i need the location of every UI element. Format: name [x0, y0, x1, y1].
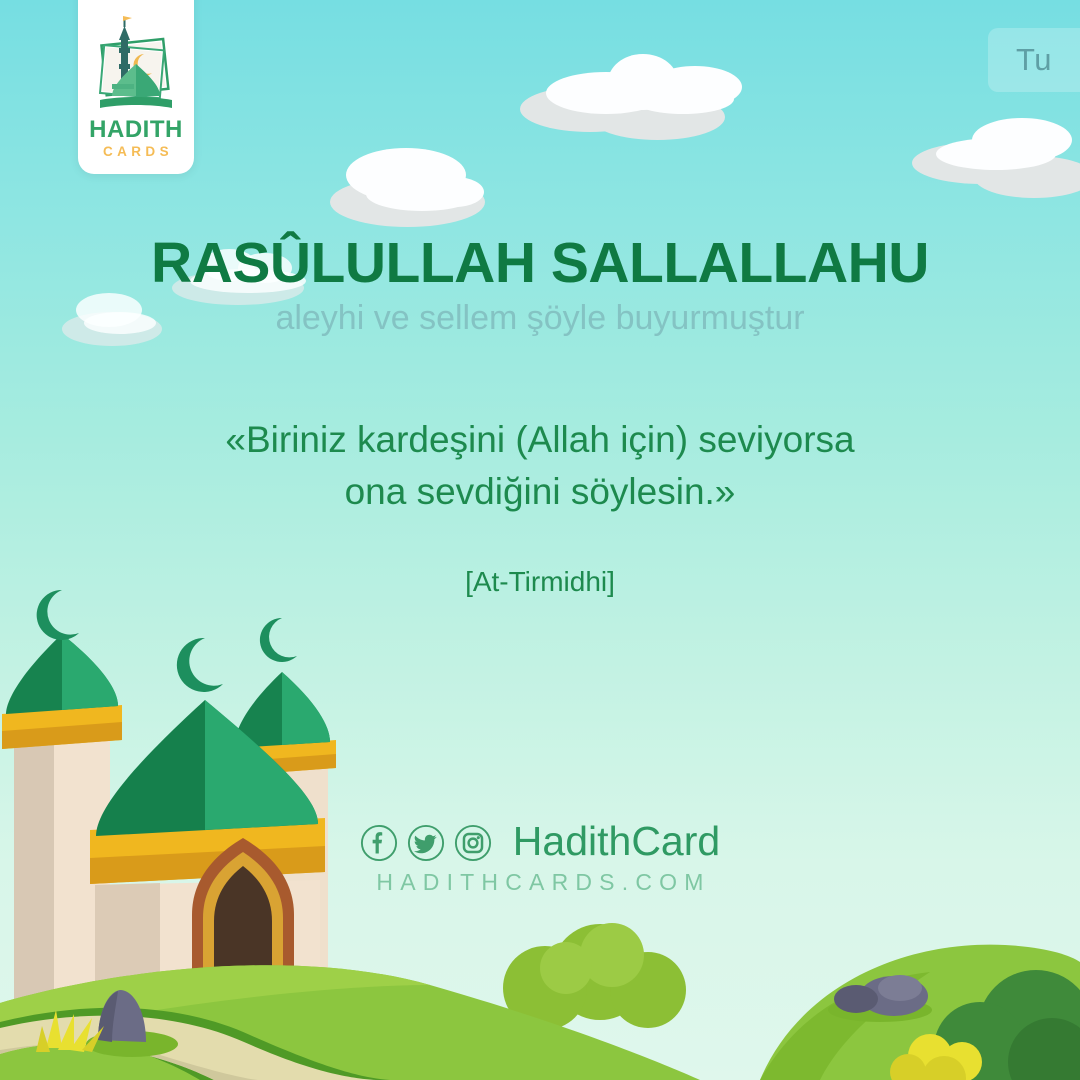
hadith-source: [At-Tirmidhi] [0, 566, 1080, 598]
hadith-card: Tu [0, 0, 1080, 1080]
twitter-icon[interactable] [407, 824, 445, 862]
hadith-quote: «Biriniz kardeşini (Allah için) seviyors… [0, 414, 1080, 519]
facebook-icon[interactable] [360, 824, 398, 862]
website-url: HADITHCARDS.COM [369, 869, 710, 896]
hadith-quote-line-2: ona sevdiğini söylesin.» [200, 466, 880, 519]
page-subtitle: aleyhi ve sellem şöyle buyurmuştur [0, 301, 1080, 337]
instagram-icon[interactable] [454, 824, 492, 862]
social-row: HadithCard [360, 822, 720, 863]
card-content: RASÛLULLAH SALLALLAHU aleyhi ve sellem ş… [0, 0, 1080, 598]
page-title: RASÛLULLAH SALLALLAHU [0, 234, 1080, 292]
footer: HadithCard HADITHCARDS.COM [0, 822, 1080, 896]
hadith-quote-line-1: «Biriniz kardeşini (Allah için) seviyors… [200, 414, 880, 467]
brand-handle: HadithCard [513, 821, 720, 862]
